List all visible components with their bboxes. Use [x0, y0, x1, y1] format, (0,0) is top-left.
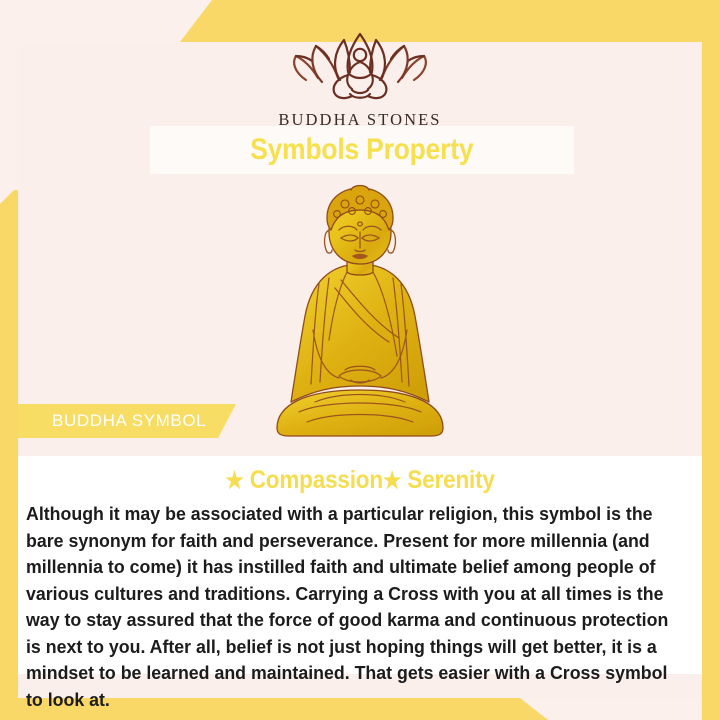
body-paragraph: Although it may be associated with a par… — [26, 501, 681, 713]
lotus-meditation-icon — [286, 28, 434, 106]
title-banner: Symbols Property — [150, 126, 574, 174]
star-icon-right: ★ — [383, 467, 401, 493]
ribbon-label: BUDDHA SYMBOL — [52, 411, 206, 431]
star-icon-left: ★ — [225, 467, 243, 493]
subheading-first: Compassion — [250, 466, 383, 494]
poster-root: BUDDHA STONES Symbols Property — [0, 0, 720, 720]
buddha-symbol-ribbon: BUDDHA SYMBOL — [18, 404, 236, 438]
page-title: Symbols Property — [250, 133, 473, 167]
decor-right-bar — [702, 0, 720, 720]
brand-logo: BUDDHA STONES — [18, 28, 702, 130]
subheading-second: Serenity — [407, 466, 494, 494]
subheading: ★ Compassion★ Serenity — [52, 456, 668, 495]
seated-buddha-illustration — [255, 180, 465, 442]
content-card: ★ Compassion★ Serenity Although it may b… — [18, 456, 702, 674]
decor-left-bar — [0, 190, 18, 720]
